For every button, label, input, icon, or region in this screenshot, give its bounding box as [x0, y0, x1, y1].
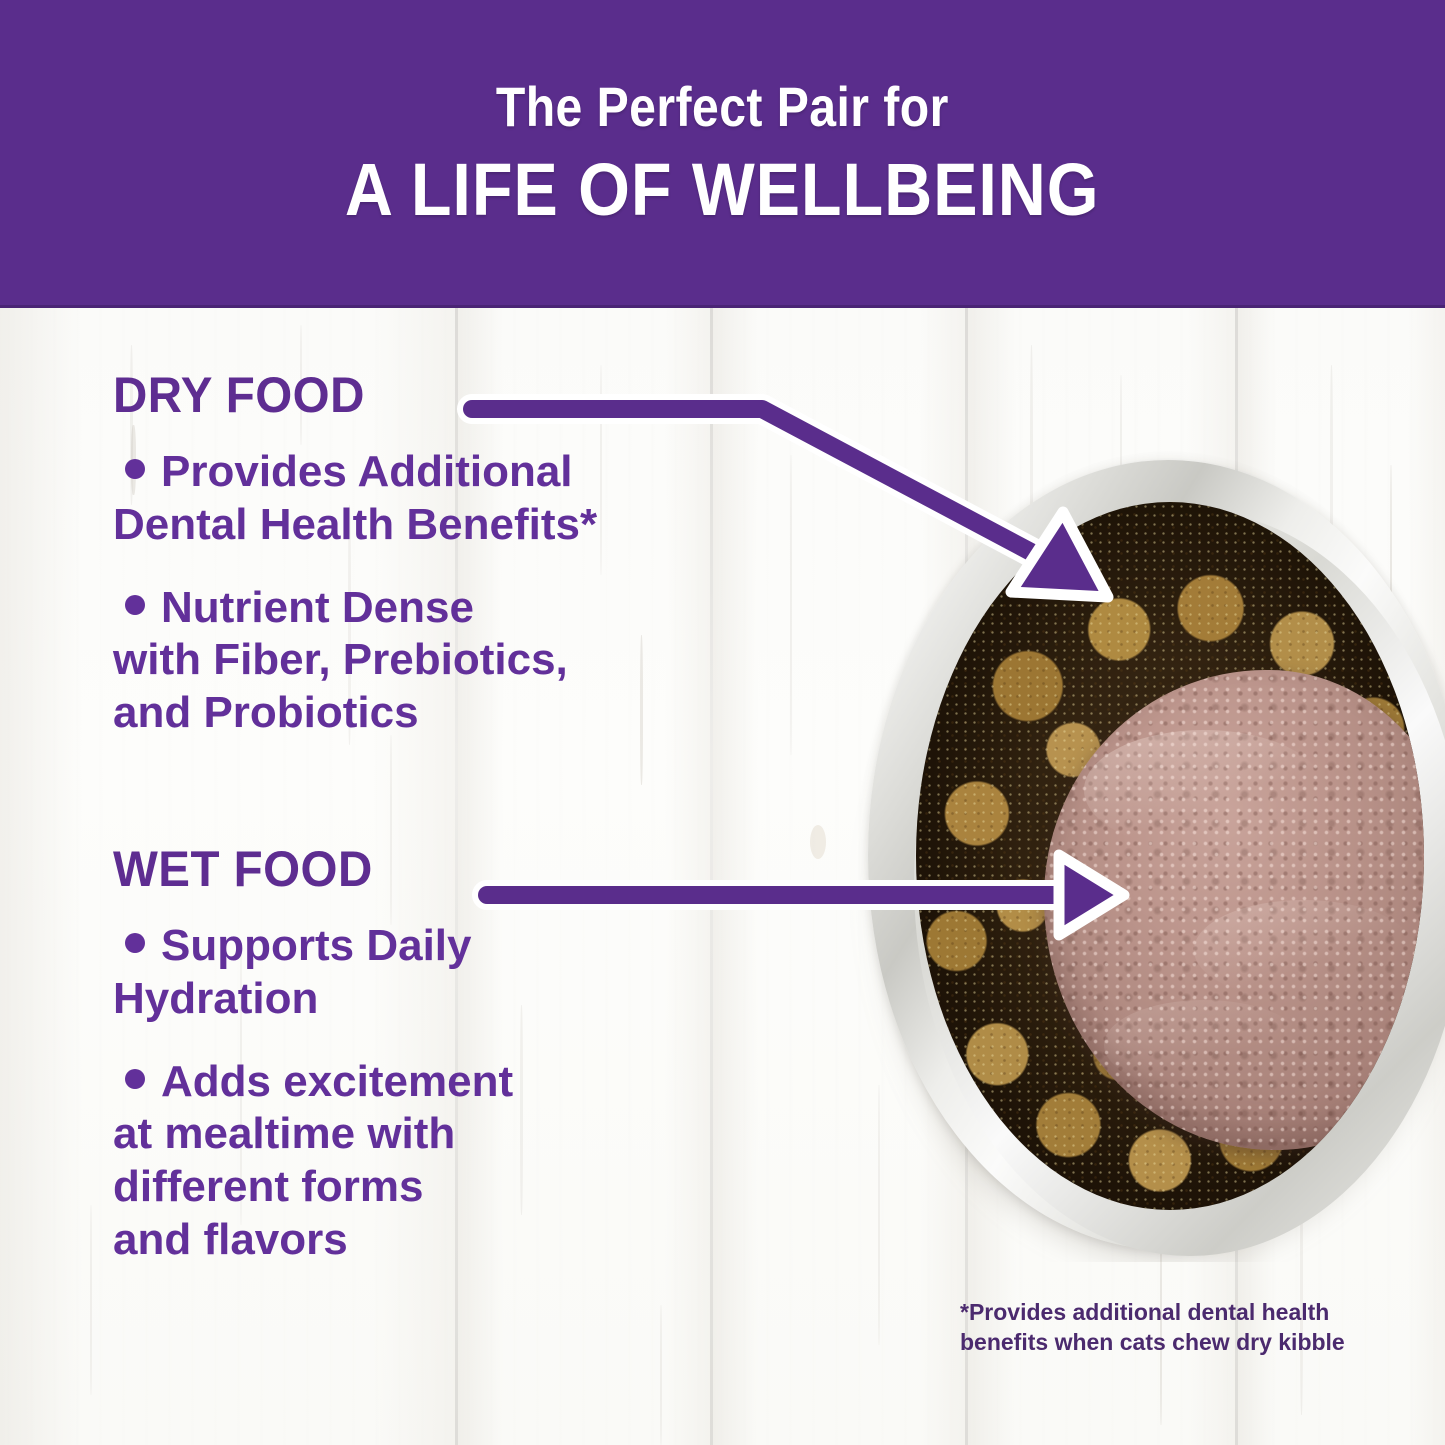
infographic-canvas: The Perfect Pair for A LIFE OF WELLBEING	[0, 0, 1445, 1445]
food-bowl-photo	[846, 432, 1445, 1262]
bullet-dot-icon	[125, 1069, 145, 1089]
bullet-text: Provides Additional Dental Health Benefi…	[113, 447, 597, 549]
bullet-dot-icon	[125, 459, 145, 479]
list-item: Nutrient Dense with Fiber, Prebiotics, a…	[113, 582, 873, 740]
bullet-list-dry-food: Provides Additional Dental Health Benefi…	[113, 446, 873, 740]
benefits-column: DRY FOOD Provides Additional Dental Heal…	[113, 370, 873, 1297]
bullet-dot-icon	[125, 595, 145, 615]
bullet-list-wet-food: Supports Daily Hydration Adds excitement…	[113, 920, 873, 1267]
list-item: Adds excitement at mealtime with differe…	[113, 1056, 873, 1267]
bullet-text: Nutrient Dense with Fiber, Prebiotics, a…	[113, 583, 568, 738]
section-dry-food: DRY FOOD Provides Additional Dental Heal…	[113, 370, 873, 740]
section-wet-food: WET FOOD Supports Daily Hydration Adds e…	[113, 844, 873, 1267]
section-heading-dry-food: DRY FOOD	[113, 370, 835, 420]
header-text-group: The Perfect Pair for A LIFE OF WELLBEING	[0, 0, 1445, 305]
list-item: Provides Additional Dental Health Benefi…	[113, 446, 873, 552]
wet-pate-mound	[1044, 670, 1424, 1150]
section-spacer	[113, 770, 873, 844]
header-title: A LIFE OF WELLBEING	[345, 153, 1100, 227]
bowl-interior	[916, 502, 1424, 1210]
bullet-dot-icon	[125, 933, 145, 953]
footnote-disclaimer: *Provides additional dental health benef…	[960, 1298, 1360, 1358]
list-item: Supports Daily Hydration	[113, 920, 873, 1026]
header-subtitle: The Perfect Pair for	[496, 79, 949, 135]
bullet-text: Supports Daily Hydration	[113, 921, 472, 1023]
bullet-text: Adds excitement at mealtime with differe…	[113, 1057, 513, 1264]
section-heading-wet-food: WET FOOD	[113, 844, 835, 894]
